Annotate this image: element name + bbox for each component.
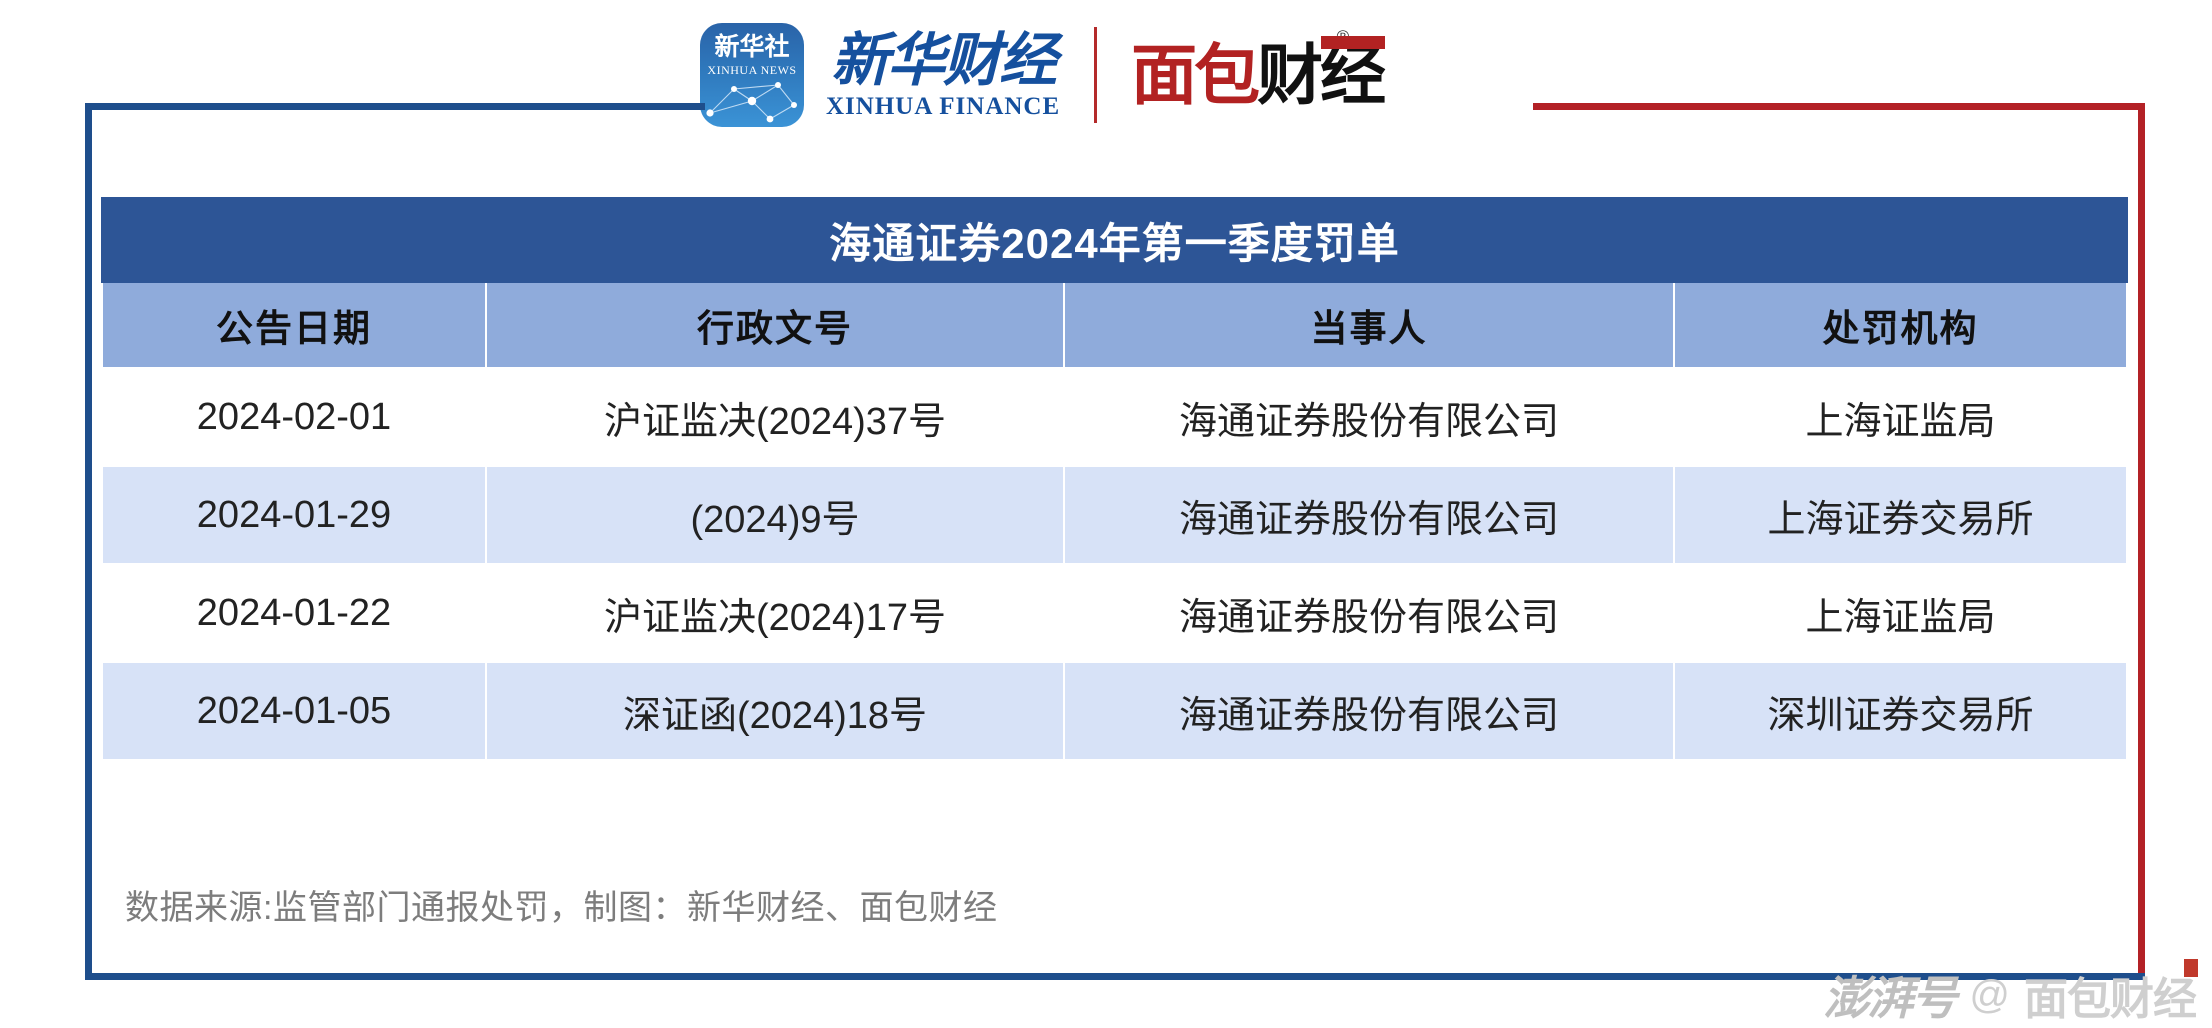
- mianbao-logo-red-bar: [1321, 36, 1385, 49]
- cell-date: 2024-02-01: [102, 368, 486, 466]
- column-header-doc-no: 行政文号: [486, 282, 1064, 368]
- mianbao-finance-logo: 面包财经 ®: [1131, 42, 1383, 108]
- cell-doc-no: 深证函(2024)18号: [486, 662, 1064, 760]
- source-footnote: 数据来源:监管部门通报处罚，制图：新华财经、面包财经: [125, 880, 997, 929]
- penalty-table: 海通证券2024年第一季度罚单 公告日期 行政文号 当事人 处罚机构 2024-…: [101, 197, 2128, 761]
- cell-date: 2024-01-22: [102, 564, 486, 662]
- account-watermark-label: 面包财经: [2024, 963, 2196, 1027]
- bottom-right-watermark: 澎湃号 @ 面包财经: [1823, 962, 2196, 1028]
- xinhua-finance-logo: 新华财经 XINHUA FINANCE: [826, 32, 1060, 119]
- cell-party: 海通证券股份有限公司: [1064, 466, 1674, 564]
- table-header-row: 公告日期 行政文号 当事人 处罚机构: [102, 282, 2127, 368]
- xinhua-finance-cn-label: 新华财经: [826, 32, 1060, 90]
- cell-authority: 深圳证券交易所: [1674, 662, 2127, 760]
- logo-row: 新华社 XINHUA NEWS: [700, 14, 1383, 136]
- xinhua-news-icon-cn-label: 新华社: [700, 35, 804, 60]
- table-row: 2024-01-05 深证函(2024)18号 海通证券股份有限公司 深圳证券交…: [102, 662, 2127, 760]
- table-title: 海通证券2024年第一季度罚单: [102, 198, 2127, 282]
- cell-party: 海通证券股份有限公司: [1064, 368, 1674, 466]
- network-graph-icon: [700, 75, 804, 127]
- cell-date: 2024-01-05: [102, 662, 486, 760]
- mianbao-logo-black-label: 财经: [1257, 38, 1383, 112]
- column-header-authority: 处罚机构: [1674, 282, 2127, 368]
- table-row: 2024-01-22 沪证监决(2024)17号 海通证券股份有限公司 上海证监…: [102, 564, 2127, 662]
- frame-top-left-rule: [85, 103, 705, 110]
- cell-authority: 上海证监局: [1674, 368, 2127, 466]
- table-row: 2024-01-29 (2024)9号 海通证券股份有限公司 上海证券交易所: [102, 466, 2127, 564]
- frame-right-rule: [2138, 103, 2145, 980]
- cell-date: 2024-01-29: [102, 466, 486, 564]
- logo-divider: [1094, 27, 1097, 123]
- column-header-date: 公告日期: [102, 282, 486, 368]
- branding-header: 新华社 XINHUA NEWS: [0, 0, 2212, 150]
- cell-doc-no: 沪证监决(2024)17号: [486, 564, 1064, 662]
- table-row: 2024-02-01 沪证监决(2024)37号 海通证券股份有限公司 上海证监…: [102, 368, 2127, 466]
- at-sign-icon: @: [1969, 973, 2010, 1018]
- xinhua-finance-en-label: XINHUA FINANCE: [826, 94, 1060, 119]
- cell-authority: 上海证监局: [1674, 564, 2127, 662]
- xinhua-news-app-icon: 新华社 XINHUA NEWS: [700, 23, 804, 127]
- cell-party: 海通证券股份有限公司: [1064, 662, 1674, 760]
- cell-party: 海通证券股份有限公司: [1064, 564, 1674, 662]
- penalty-table-container: 海通证券2024年第一季度罚单 公告日期 行政文号 当事人 处罚机构 2024-…: [101, 197, 2126, 761]
- frame-top-right-rule: [1533, 103, 2145, 110]
- mianbao-logo-red-label: 面包: [1131, 38, 1257, 112]
- account-watermark-red-tick: [2184, 959, 2198, 977]
- cell-authority: 上海证券交易所: [1674, 466, 2127, 564]
- table-title-row: 海通证券2024年第一季度罚单: [102, 198, 2127, 282]
- frame-left-rule: [85, 103, 92, 980]
- cell-doc-no: (2024)9号: [486, 466, 1064, 564]
- column-header-party: 当事人: [1064, 282, 1674, 368]
- platform-watermark-label: 澎湃号: [1823, 962, 1955, 1028]
- cell-doc-no: 沪证监决(2024)37号: [486, 368, 1064, 466]
